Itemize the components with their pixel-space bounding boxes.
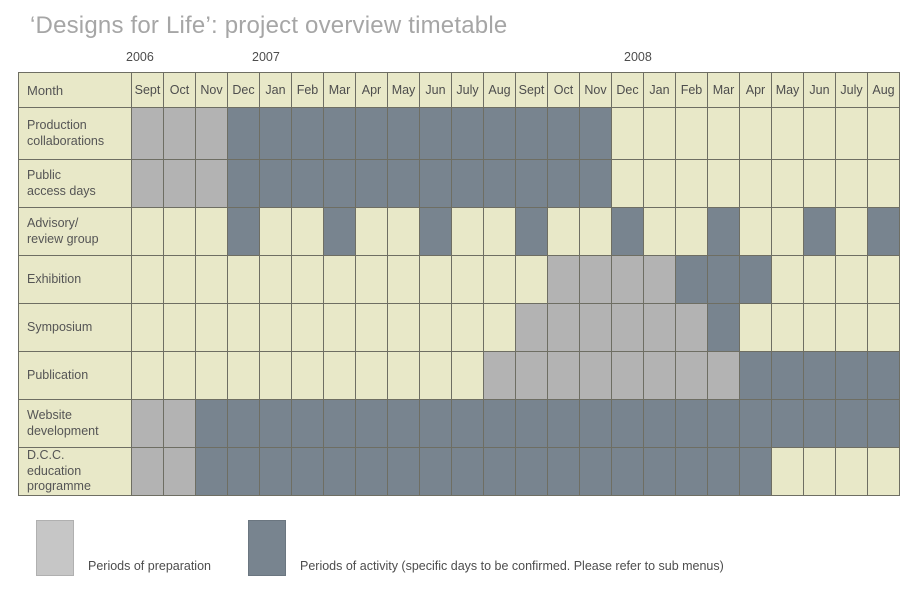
cell-r3-c15 (612, 256, 644, 304)
table-row: Websitedevelopment (19, 400, 900, 448)
page-title: ‘Designs for Life’: project overview tim… (30, 12, 507, 40)
header-month-4: Jan (260, 73, 292, 108)
row-label-2: Advisory/review group (19, 208, 132, 256)
cell-r1-c4 (260, 160, 292, 208)
cell-r3-c21 (804, 256, 836, 304)
cell-r7-c0 (132, 448, 164, 496)
cell-r5-c2 (196, 352, 228, 400)
cell-r0-c0 (132, 108, 164, 160)
cell-r5-c9 (420, 352, 452, 400)
cell-r0-c3 (228, 108, 260, 160)
header-month-5: Feb (292, 73, 324, 108)
cell-r1-c3 (228, 160, 260, 208)
header-month-6: Mar (324, 73, 356, 108)
cell-r5-c10 (452, 352, 484, 400)
cell-r2-c18 (708, 208, 740, 256)
cell-r2-c11 (484, 208, 516, 256)
cell-r4-c23 (868, 304, 900, 352)
cell-r7-c1 (164, 448, 196, 496)
cell-r4-c12 (516, 304, 548, 352)
header-month-23: Aug (868, 73, 900, 108)
cell-r4-c21 (804, 304, 836, 352)
cell-r4-c15 (612, 304, 644, 352)
cell-r4-c11 (484, 304, 516, 352)
legend-label-active: Periods of activity (specific days to be… (300, 559, 724, 573)
cell-r1-c9 (420, 160, 452, 208)
cell-r3-c12 (516, 256, 548, 304)
header-month-label: Month (19, 73, 132, 108)
cell-r6-c9 (420, 400, 452, 448)
header-month-9: Jun (420, 73, 452, 108)
table-row: Publicaccess days (19, 160, 900, 208)
cell-r3-c14 (580, 256, 612, 304)
legend-label-prep: Periods of preparation (88, 559, 211, 573)
cell-r4-c7 (356, 304, 388, 352)
cell-r4-c2 (196, 304, 228, 352)
cell-r2-c2 (196, 208, 228, 256)
cell-r3-c23 (868, 256, 900, 304)
row-label-1: Publicaccess days (19, 160, 132, 208)
cell-r2-c6 (324, 208, 356, 256)
table-row: Symposium (19, 304, 900, 352)
cell-r3-c1 (164, 256, 196, 304)
cell-r6-c22 (836, 400, 868, 448)
cell-r5-c6 (324, 352, 356, 400)
cell-r1-c17 (676, 160, 708, 208)
cell-r1-c14 (580, 160, 612, 208)
cell-r7-c5 (292, 448, 324, 496)
cell-r6-c6 (324, 400, 356, 448)
header-month-19: Apr (740, 73, 772, 108)
cell-r6-c17 (676, 400, 708, 448)
cell-r0-c20 (772, 108, 804, 160)
cell-r5-c3 (228, 352, 260, 400)
cell-r1-c22 (836, 160, 868, 208)
cell-r6-c0 (132, 400, 164, 448)
cell-r6-c16 (644, 400, 676, 448)
cell-r5-c23 (868, 352, 900, 400)
cell-r7-c19 (740, 448, 772, 496)
cell-r5-c12 (516, 352, 548, 400)
cell-r7-c18 (708, 448, 740, 496)
timetable-body: ProductioncollaborationsPublicaccess day… (19, 108, 900, 496)
cell-r2-c4 (260, 208, 292, 256)
cell-r0-c5 (292, 108, 324, 160)
cell-r7-c9 (420, 448, 452, 496)
cell-r7-c17 (676, 448, 708, 496)
year-label: 2006 (126, 50, 154, 64)
header-month-10: July (452, 73, 484, 108)
legend-item-prep: Periods of preparation (36, 520, 211, 576)
cell-r4-c16 (644, 304, 676, 352)
cell-r7-c3 (228, 448, 260, 496)
cell-r7-c16 (644, 448, 676, 496)
cell-r1-c15 (612, 160, 644, 208)
cell-r5-c0 (132, 352, 164, 400)
cell-r2-c15 (612, 208, 644, 256)
cell-r3-c13 (548, 256, 580, 304)
cell-r0-c4 (260, 108, 292, 160)
cell-r1-c13 (548, 160, 580, 208)
row-label-7: D.C.C.educationprogramme (19, 448, 132, 496)
cell-r0-c11 (484, 108, 516, 160)
cell-r5-c4 (260, 352, 292, 400)
year-labels: 200620072008 (0, 50, 900, 70)
header-month-16: Jan (644, 73, 676, 108)
cell-r4-c13 (548, 304, 580, 352)
header-month-18: Mar (708, 73, 740, 108)
cell-r2-c22 (836, 208, 868, 256)
cell-r6-c20 (772, 400, 804, 448)
cell-r1-c5 (292, 160, 324, 208)
cell-r1-c6 (324, 160, 356, 208)
cell-r4-c8 (388, 304, 420, 352)
cell-r3-c11 (484, 256, 516, 304)
cell-r0-c23 (868, 108, 900, 160)
cell-r7-c23 (868, 448, 900, 496)
cell-r0-c7 (356, 108, 388, 160)
cell-r1-c16 (644, 160, 676, 208)
cell-r6-c19 (740, 400, 772, 448)
cell-r3-c4 (260, 256, 292, 304)
cell-r1-c0 (132, 160, 164, 208)
cell-r6-c1 (164, 400, 196, 448)
header-month-1: Oct (164, 73, 196, 108)
table-row: Productioncollaborations (19, 108, 900, 160)
header-month-21: Jun (804, 73, 836, 108)
row-label-0: Productioncollaborations (19, 108, 132, 160)
header-row: Month SeptOctNovDecJanFebMarAprMayJunJul… (19, 73, 900, 108)
header-month-22: July (836, 73, 868, 108)
timetable: Month SeptOctNovDecJanFebMarAprMayJunJul… (18, 72, 900, 496)
cell-r0-c10 (452, 108, 484, 160)
cell-r6-c15 (612, 400, 644, 448)
cell-r3-c19 (740, 256, 772, 304)
cell-r4-c19 (740, 304, 772, 352)
cell-r2-c12 (516, 208, 548, 256)
cell-r1-c10 (452, 160, 484, 208)
header-month-2: Nov (196, 73, 228, 108)
cell-r2-c3 (228, 208, 260, 256)
cell-r2-c14 (580, 208, 612, 256)
cell-r0-c2 (196, 108, 228, 160)
cell-r4-c20 (772, 304, 804, 352)
timetable-header: Month SeptOctNovDecJanFebMarAprMayJunJul… (19, 73, 900, 108)
cell-r2-c8 (388, 208, 420, 256)
cell-r2-c10 (452, 208, 484, 256)
cell-r6-c13 (548, 400, 580, 448)
cell-r6-c5 (292, 400, 324, 448)
cell-r3-c0 (132, 256, 164, 304)
header-month-12: Sept (516, 73, 548, 108)
cell-r7-c6 (324, 448, 356, 496)
cell-r6-c2 (196, 400, 228, 448)
cell-r4-c6 (324, 304, 356, 352)
cell-r0-c21 (804, 108, 836, 160)
year-label: 2008 (624, 50, 652, 64)
cell-r4-c0 (132, 304, 164, 352)
cell-r2-c21 (804, 208, 836, 256)
cell-r3-c18 (708, 256, 740, 304)
cell-r2-c0 (132, 208, 164, 256)
header-month-7: Apr (356, 73, 388, 108)
header-month-8: May (388, 73, 420, 108)
cell-r0-c13 (548, 108, 580, 160)
cell-r0-c6 (324, 108, 356, 160)
legend-swatch-prep (36, 520, 74, 576)
year-label: 2007 (252, 50, 280, 64)
cell-r6-c8 (388, 400, 420, 448)
cell-r5-c5 (292, 352, 324, 400)
cell-r7-c8 (388, 448, 420, 496)
cell-r3-c10 (452, 256, 484, 304)
cell-r2-c1 (164, 208, 196, 256)
cell-r1-c11 (484, 160, 516, 208)
cell-r1-c20 (772, 160, 804, 208)
cell-r2-c13 (548, 208, 580, 256)
cell-r2-c9 (420, 208, 452, 256)
cell-r0-c16 (644, 108, 676, 160)
cell-r4-c4 (260, 304, 292, 352)
header-month-14: Nov (580, 73, 612, 108)
cell-r0-c15 (612, 108, 644, 160)
cell-r5-c11 (484, 352, 516, 400)
cell-r0-c1 (164, 108, 196, 160)
cell-r5-c22 (836, 352, 868, 400)
cell-r1-c19 (740, 160, 772, 208)
cell-r4-c17 (676, 304, 708, 352)
cell-r3-c16 (644, 256, 676, 304)
cell-r6-c7 (356, 400, 388, 448)
cell-r0-c17 (676, 108, 708, 160)
cell-r1-c8 (388, 160, 420, 208)
cell-r4-c5 (292, 304, 324, 352)
header-month-0: Sept (132, 73, 164, 108)
cell-r7-c13 (548, 448, 580, 496)
cell-r0-c19 (740, 108, 772, 160)
cell-r6-c21 (804, 400, 836, 448)
cell-r0-c12 (516, 108, 548, 160)
cell-r5-c15 (612, 352, 644, 400)
cell-r7-c10 (452, 448, 484, 496)
cell-r7-c22 (836, 448, 868, 496)
cell-r5-c7 (356, 352, 388, 400)
cell-r1-c23 (868, 160, 900, 208)
cell-r6-c18 (708, 400, 740, 448)
cell-r5-c13 (548, 352, 580, 400)
header-month-3: Dec (228, 73, 260, 108)
cell-r1-c21 (804, 160, 836, 208)
cell-r3-c6 (324, 256, 356, 304)
header-month-20: May (772, 73, 804, 108)
cell-r6-c4 (260, 400, 292, 448)
cell-r5-c14 (580, 352, 612, 400)
cell-r5-c16 (644, 352, 676, 400)
cell-r2-c16 (644, 208, 676, 256)
cell-r4-c14 (580, 304, 612, 352)
cell-r0-c22 (836, 108, 868, 160)
cell-r1-c1 (164, 160, 196, 208)
cell-r3-c5 (292, 256, 324, 304)
row-label-5: Publication (19, 352, 132, 400)
legend-swatch-active (248, 520, 286, 576)
cell-r5-c8 (388, 352, 420, 400)
cell-r4-c9 (420, 304, 452, 352)
cell-r4-c22 (836, 304, 868, 352)
row-label-6: Websitedevelopment (19, 400, 132, 448)
cell-r2-c5 (292, 208, 324, 256)
cell-r5-c21 (804, 352, 836, 400)
legend: Periods of preparationPeriods of activit… (18, 520, 888, 580)
cell-r0-c9 (420, 108, 452, 160)
cell-r3-c2 (196, 256, 228, 304)
cell-r7-c11 (484, 448, 516, 496)
table-row: Advisory/review group (19, 208, 900, 256)
cell-r7-c2 (196, 448, 228, 496)
cell-r1-c12 (516, 160, 548, 208)
cell-r2-c7 (356, 208, 388, 256)
cell-r0-c14 (580, 108, 612, 160)
cell-r6-c10 (452, 400, 484, 448)
cell-r2-c23 (868, 208, 900, 256)
cell-r3-c17 (676, 256, 708, 304)
header-month-15: Dec (612, 73, 644, 108)
cell-r3-c9 (420, 256, 452, 304)
cell-r4-c3 (228, 304, 260, 352)
cell-r6-c14 (580, 400, 612, 448)
header-month-17: Feb (676, 73, 708, 108)
cell-r7-c7 (356, 448, 388, 496)
cell-r1-c2 (196, 160, 228, 208)
cell-r7-c20 (772, 448, 804, 496)
cell-r6-c11 (484, 400, 516, 448)
legend-item-active: Periods of activity (specific days to be… (248, 520, 724, 576)
cell-r4-c1 (164, 304, 196, 352)
header-month-11: Aug (484, 73, 516, 108)
cell-r1-c7 (356, 160, 388, 208)
cell-r7-c4 (260, 448, 292, 496)
cell-r5-c18 (708, 352, 740, 400)
cell-r7-c15 (612, 448, 644, 496)
cell-r7-c14 (580, 448, 612, 496)
cell-r5-c1 (164, 352, 196, 400)
table-row: Publication (19, 352, 900, 400)
cell-r4-c10 (452, 304, 484, 352)
cell-r1-c18 (708, 160, 740, 208)
row-label-4: Symposium (19, 304, 132, 352)
cell-r2-c17 (676, 208, 708, 256)
table-row: D.C.C.educationprogramme (19, 448, 900, 496)
cell-r3-c20 (772, 256, 804, 304)
cell-r3-c3 (228, 256, 260, 304)
cell-r5-c19 (740, 352, 772, 400)
header-month-13: Oct (548, 73, 580, 108)
cell-r5-c20 (772, 352, 804, 400)
cell-r3-c22 (836, 256, 868, 304)
table-row: Exhibition (19, 256, 900, 304)
cell-r7-c21 (804, 448, 836, 496)
cell-r2-c20 (772, 208, 804, 256)
cell-r3-c8 (388, 256, 420, 304)
cell-r6-c12 (516, 400, 548, 448)
cell-r4-c18 (708, 304, 740, 352)
cell-r6-c3 (228, 400, 260, 448)
cell-r0-c8 (388, 108, 420, 160)
row-label-3: Exhibition (19, 256, 132, 304)
cell-r7-c12 (516, 448, 548, 496)
cell-r0-c18 (708, 108, 740, 160)
cell-r3-c7 (356, 256, 388, 304)
cell-r5-c17 (676, 352, 708, 400)
cell-r2-c19 (740, 208, 772, 256)
cell-r6-c23 (868, 400, 900, 448)
